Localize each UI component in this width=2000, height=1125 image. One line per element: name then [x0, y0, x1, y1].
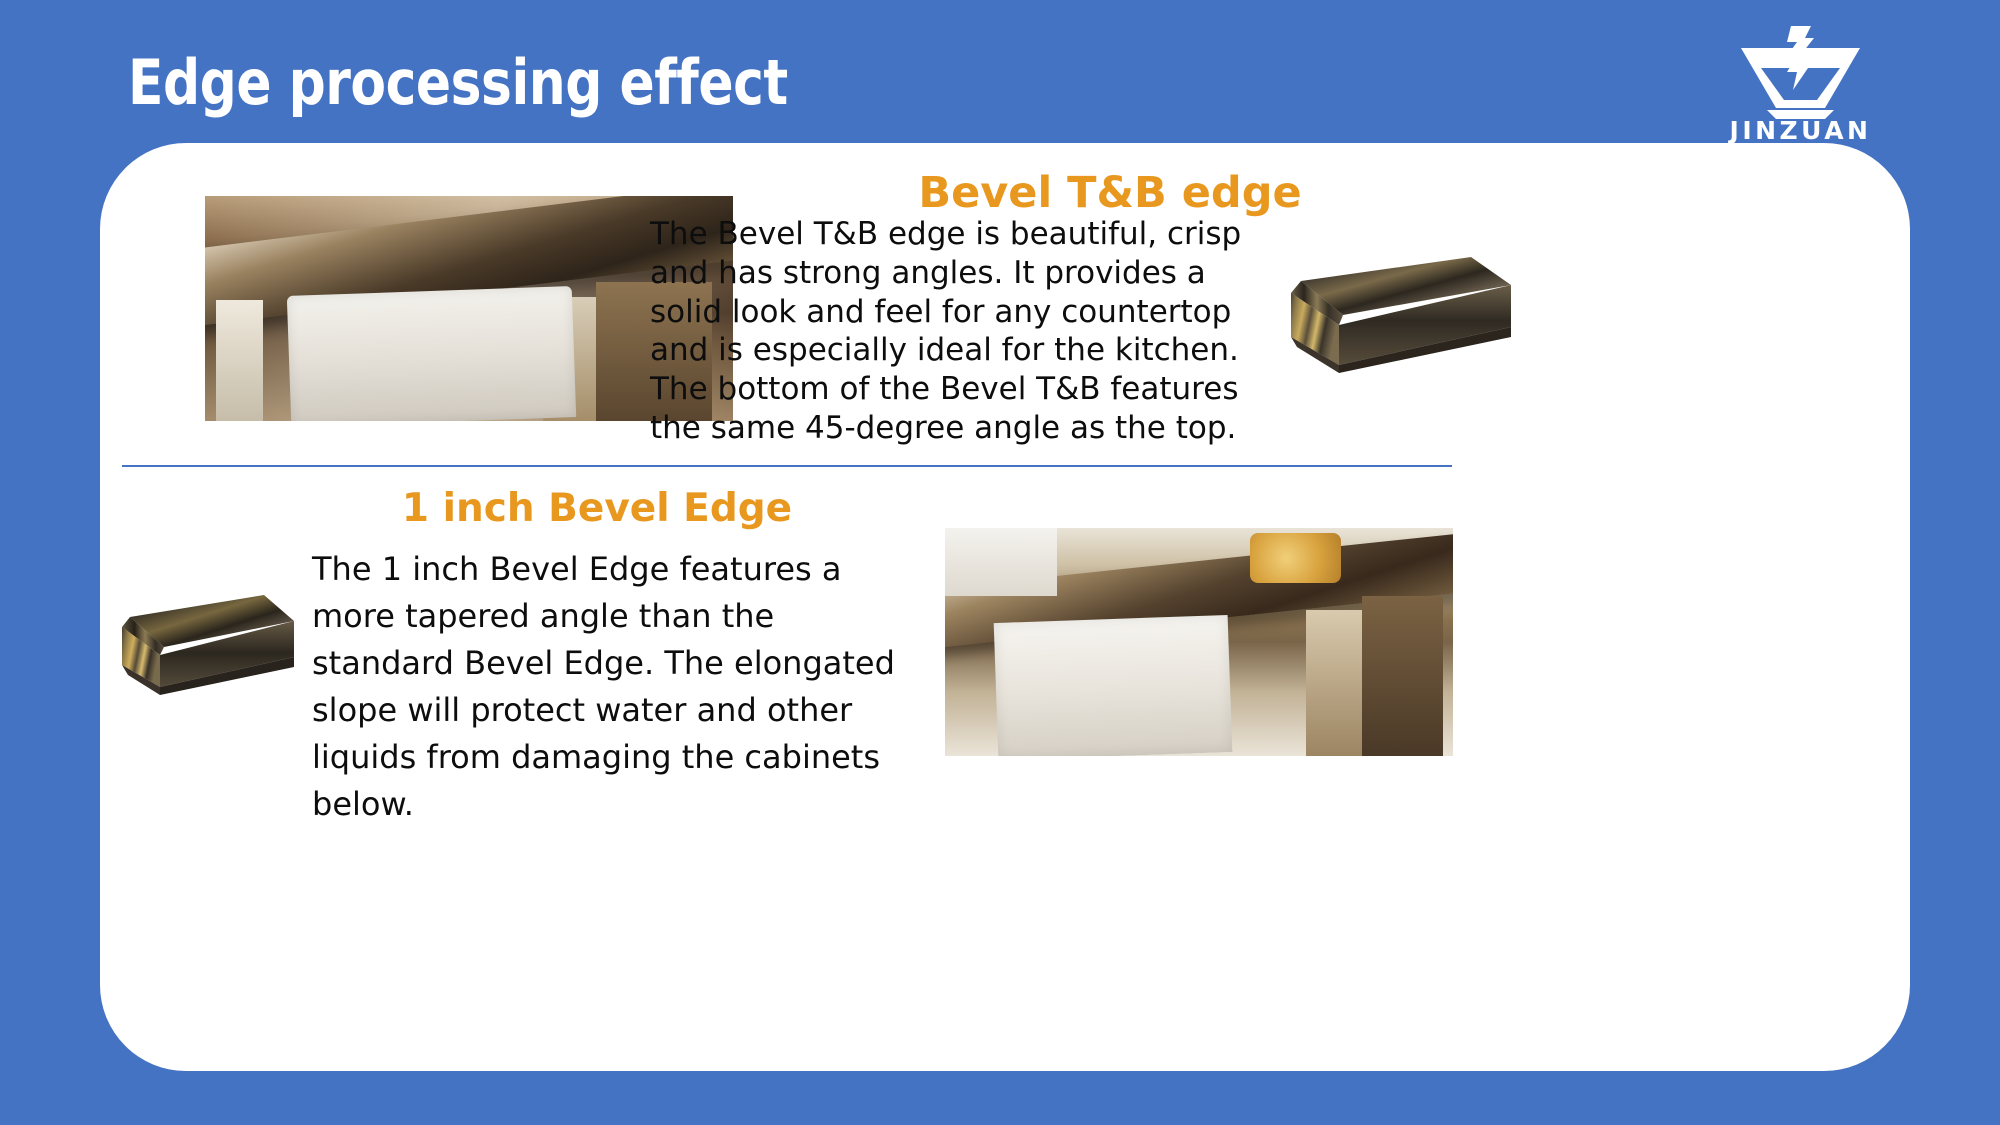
section-heading-one-inch-bevel: 1 inch Bevel Edge [332, 486, 862, 531]
section-body-bevel-tb: The Bevel T&B edge is beautiful, crisp a… [650, 215, 1250, 448]
stone-block-shape [82, 583, 302, 713]
one-inch-bevel-stone-sample [82, 583, 302, 713]
logo-wordmark: JINZUAN [1713, 116, 1888, 145]
section-heading-bevel-tb: Bevel T&B edge [760, 168, 1460, 218]
slide-canvas: Edge processing effect JINZUAN 劲钻 Bevel … [0, 0, 2000, 1125]
section-body-one-inch-bevel: The 1 inch Bevel Edge features a more ta… [312, 546, 907, 828]
content-card: Bevel T&B edge The Bevel T&B edge is bea… [100, 143, 1910, 1071]
logo-mark-icon [1713, 24, 1888, 124]
page-title: Edge processing effect [128, 46, 788, 119]
section-divider [122, 465, 1452, 467]
one-inch-bevel-countertop-photo [945, 528, 1453, 756]
bevel-tb-stone-sample [1239, 241, 1519, 391]
stone-block-shape [1239, 241, 1519, 391]
